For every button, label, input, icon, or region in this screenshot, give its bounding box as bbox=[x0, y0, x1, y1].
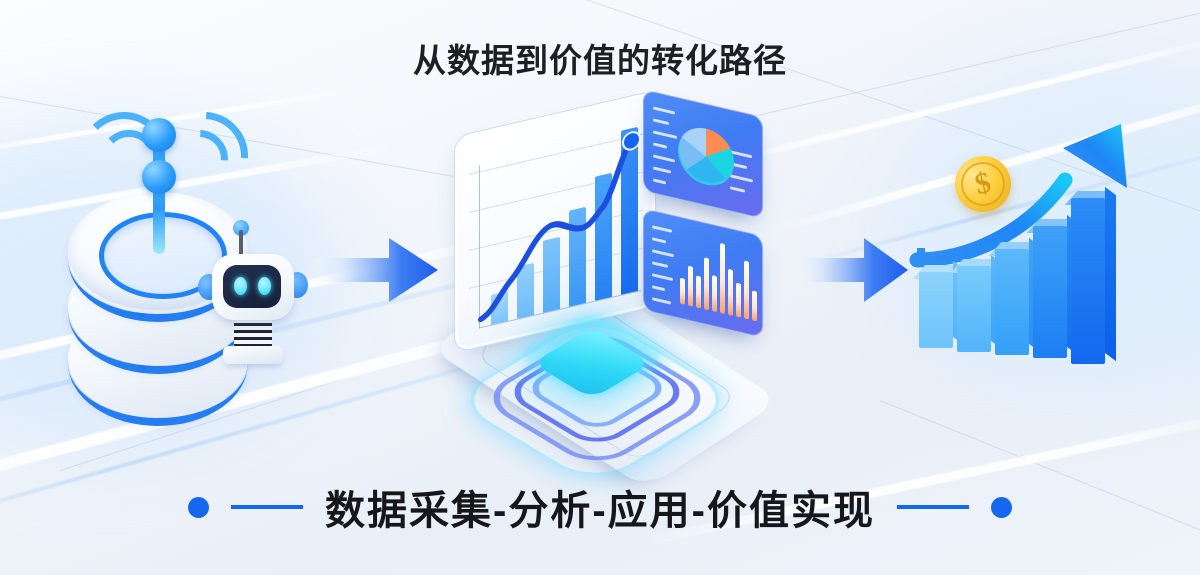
caption-text: 数据采集-分析-应用-价值实现 bbox=[325, 478, 875, 536]
panel-text-row bbox=[653, 118, 669, 125]
panel-bar bbox=[744, 260, 749, 319]
growth-bar-4-face bbox=[1033, 226, 1067, 358]
footer-caption: 数据采集-分析-应用-价值实现 bbox=[0, 476, 1200, 538]
panel-text-row bbox=[653, 154, 675, 162]
panel-text-row bbox=[652, 225, 672, 233]
panel-pie-chart bbox=[678, 122, 734, 191]
panel-text-row bbox=[653, 130, 677, 139]
panel-text-row bbox=[652, 273, 673, 281]
dashboard-panel-bars bbox=[643, 208, 763, 338]
coin-symbol: $ bbox=[956, 157, 1009, 210]
growth-bar-2-face bbox=[957, 266, 991, 352]
panel-text-row bbox=[652, 249, 674, 257]
flow-arrow-2 bbox=[790, 234, 910, 306]
antenna-ball-front-icon bbox=[142, 160, 176, 194]
page-title: 从数据到价值的转化路径 bbox=[0, 34, 1200, 82]
analysis-laptop-group bbox=[430, 105, 780, 460]
caption-line-left bbox=[231, 505, 303, 509]
robot-base bbox=[223, 346, 283, 364]
panel-bar bbox=[728, 269, 733, 316]
robot-eye-left bbox=[234, 277, 247, 295]
panel-text-row bbox=[653, 178, 666, 184]
panel-bar bbox=[680, 278, 685, 305]
caption-dot-right bbox=[991, 497, 1012, 518]
panel-text-row bbox=[652, 285, 665, 291]
panel-bar bbox=[720, 243, 725, 314]
panel-text-row bbox=[652, 261, 668, 268]
panel-text-row bbox=[653, 142, 667, 148]
panel-bar bbox=[688, 266, 693, 307]
infographic-canvas: 从数据到价值的转化路径 bbox=[0, 0, 1200, 575]
panel-text-row bbox=[653, 106, 675, 114]
caption-line-right bbox=[897, 505, 969, 509]
flow-arrow-1 bbox=[305, 234, 440, 306]
panel-text-row bbox=[653, 166, 671, 173]
robot-face-screen bbox=[223, 265, 281, 308]
robot-neck-spring bbox=[234, 316, 272, 350]
growth-value-group: $ bbox=[895, 118, 1155, 408]
panel-bar bbox=[752, 290, 757, 321]
robot-assistant-icon bbox=[190, 216, 310, 366]
caption-dot-left bbox=[188, 497, 209, 518]
screen-trend-line bbox=[455, 91, 655, 352]
panel-bar bbox=[736, 283, 741, 318]
growth-bar-1-face bbox=[919, 272, 953, 348]
growth-bar-3-face bbox=[995, 249, 1029, 355]
panel-text-row bbox=[652, 297, 671, 304]
panel-bar bbox=[704, 257, 709, 310]
dashboard-panel-pie bbox=[643, 89, 763, 219]
growth-bar-5-face bbox=[1071, 198, 1105, 364]
panel-text-row bbox=[652, 237, 666, 243]
panel-bar bbox=[696, 275, 701, 308]
growth-bar-5-side bbox=[1105, 187, 1116, 361]
antenna-ball-icon bbox=[142, 118, 176, 152]
panel-bar bbox=[712, 275, 717, 312]
robot-eye-right bbox=[258, 277, 271, 295]
